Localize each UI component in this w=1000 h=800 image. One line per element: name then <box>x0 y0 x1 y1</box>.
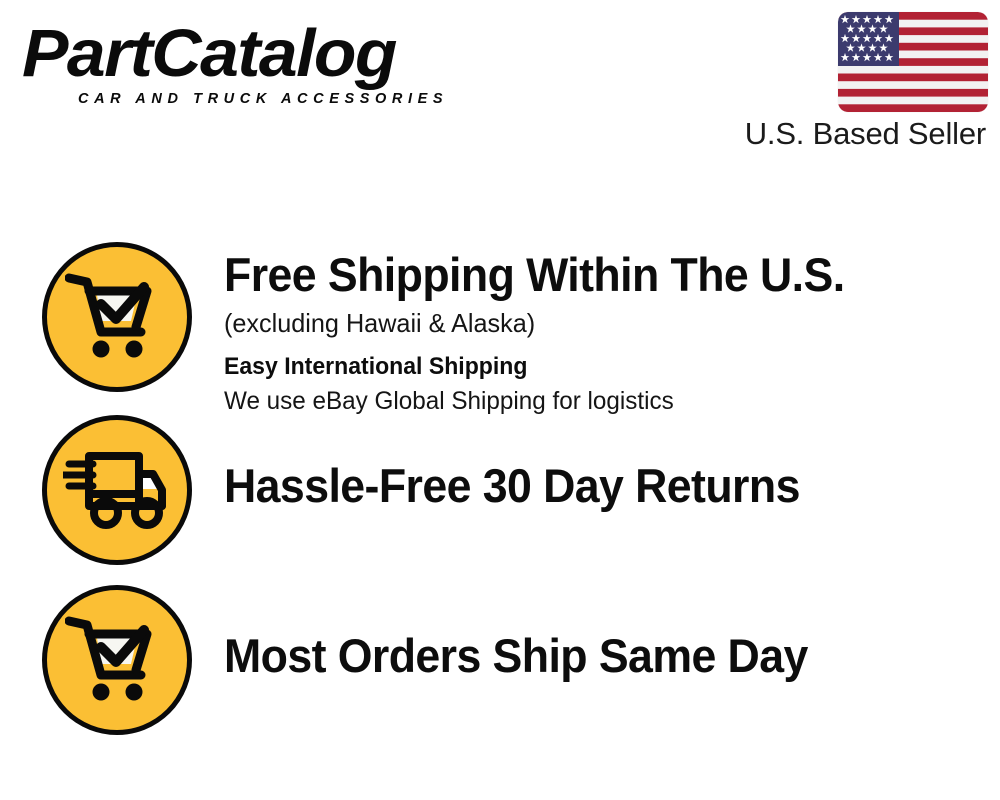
brand-tagline: CAR AND TRUCK ACCESSORIES <box>78 91 492 107</box>
feature-subtitle-secondary: We use eBay Global Shipping for logistic… <box>224 385 977 418</box>
feature-text-block: Free Shipping Within The U.S. (excluding… <box>224 242 1000 418</box>
brand-wordmark: PartCatalog <box>22 18 511 90</box>
us-based-seller-label: U.S. Based Seller <box>745 116 986 152</box>
feature-subtitle-strong: Easy International Shipping <box>224 350 969 383</box>
feature-icon-badge <box>42 585 192 735</box>
shopping-cart-check-icon <box>65 612 169 708</box>
banner-header: PartCatalog CAR AND TRUCK ACCESSORIES <box>0 0 1000 180</box>
feature-row: Hassle-Free 30 Day Returns <box>0 415 1000 565</box>
feature-subtitle: (excluding Hawaii & Alaska) <box>224 306 977 340</box>
us-flag-badge <box>838 12 988 112</box>
promo-banner: PartCatalog CAR AND TRUCK ACCESSORIES <box>0 0 1000 800</box>
feature-title: Hassle-Free 30 Day Returns <box>224 459 961 513</box>
feature-row: Most Orders Ship Same Day <box>0 585 1000 735</box>
delivery-truck-icon <box>63 448 171 532</box>
feature-text-block: Most Orders Ship Same Day <box>224 585 1000 683</box>
feature-row: Free Shipping Within The U.S. (excluding… <box>0 242 1000 418</box>
us-flag-icon <box>838 12 988 112</box>
shopping-cart-check-icon <box>65 269 169 365</box>
feature-title: Free Shipping Within The U.S. <box>224 248 961 302</box>
feature-icon-badge <box>42 242 192 392</box>
brand-logo: PartCatalog CAR AND TRUCK ACCESSORIES <box>22 18 492 118</box>
feature-icon-badge <box>42 415 192 565</box>
feature-text-block: Hassle-Free 30 Day Returns <box>224 415 1000 513</box>
feature-title: Most Orders Ship Same Day <box>224 629 961 683</box>
